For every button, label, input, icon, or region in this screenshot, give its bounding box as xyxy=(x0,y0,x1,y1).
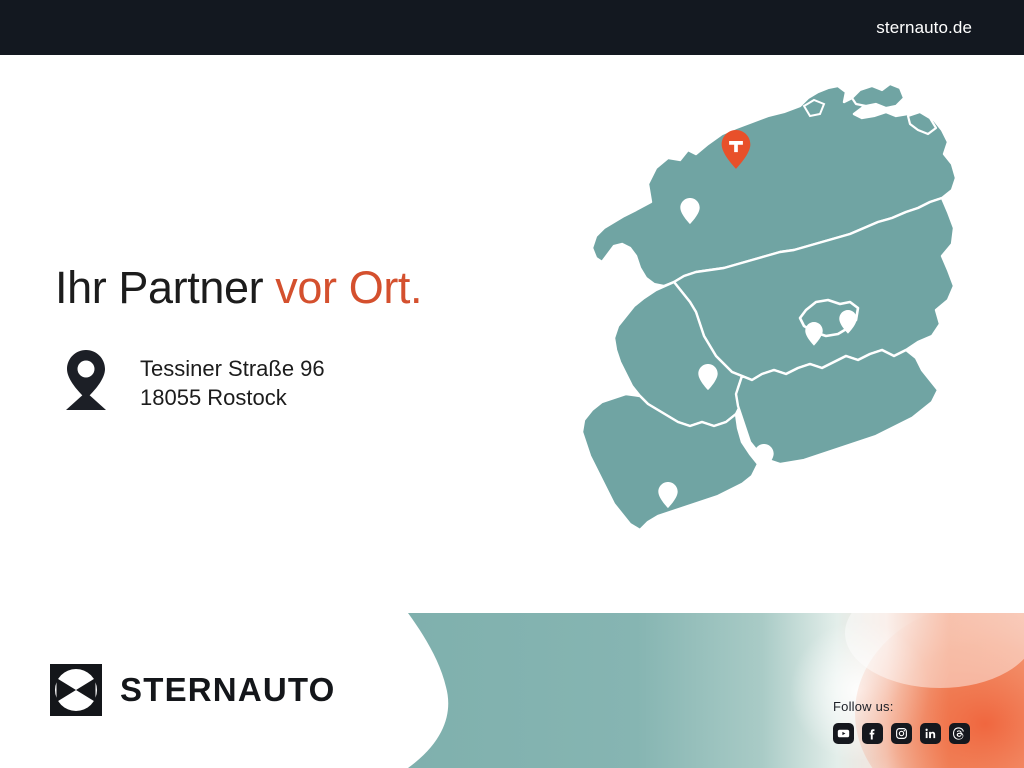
linkedin-icon[interactable] xyxy=(920,723,941,744)
site-url-label: sternauto.de xyxy=(876,18,1024,38)
headline-prefix: Ihr Partner xyxy=(55,262,275,313)
address-lines: Tessiner Straße 96 18055 Rostock xyxy=(140,348,325,412)
address-line-1: Tessiner Straße 96 xyxy=(140,354,325,383)
youtube-icon[interactable] xyxy=(833,723,854,744)
social-links-row xyxy=(833,723,970,744)
instagram-icon[interactable] xyxy=(891,723,912,744)
slide-root: sternauto.de Ihr Partner vor Ort. Tessin… xyxy=(0,0,1024,768)
headline-accent: vor Ort. xyxy=(275,262,422,313)
top-bar: sternauto.de xyxy=(0,0,1024,55)
location-pin-icon xyxy=(58,348,114,410)
follow-us-block: Follow us: xyxy=(833,699,970,744)
follow-us-label: Follow us: xyxy=(833,699,894,714)
address-block: Tessiner Straße 96 18055 Rostock xyxy=(58,348,325,412)
page-title: Ihr Partner vor Ort. xyxy=(55,262,422,314)
facebook-icon[interactable] xyxy=(862,723,883,744)
footer-band: Follow us: xyxy=(0,613,1024,768)
threads-icon[interactable] xyxy=(949,723,970,744)
east-germany-dealer-map xyxy=(556,72,976,592)
footer-gradient-shape xyxy=(0,613,1024,768)
address-line-2: 18055 Rostock xyxy=(140,383,325,412)
